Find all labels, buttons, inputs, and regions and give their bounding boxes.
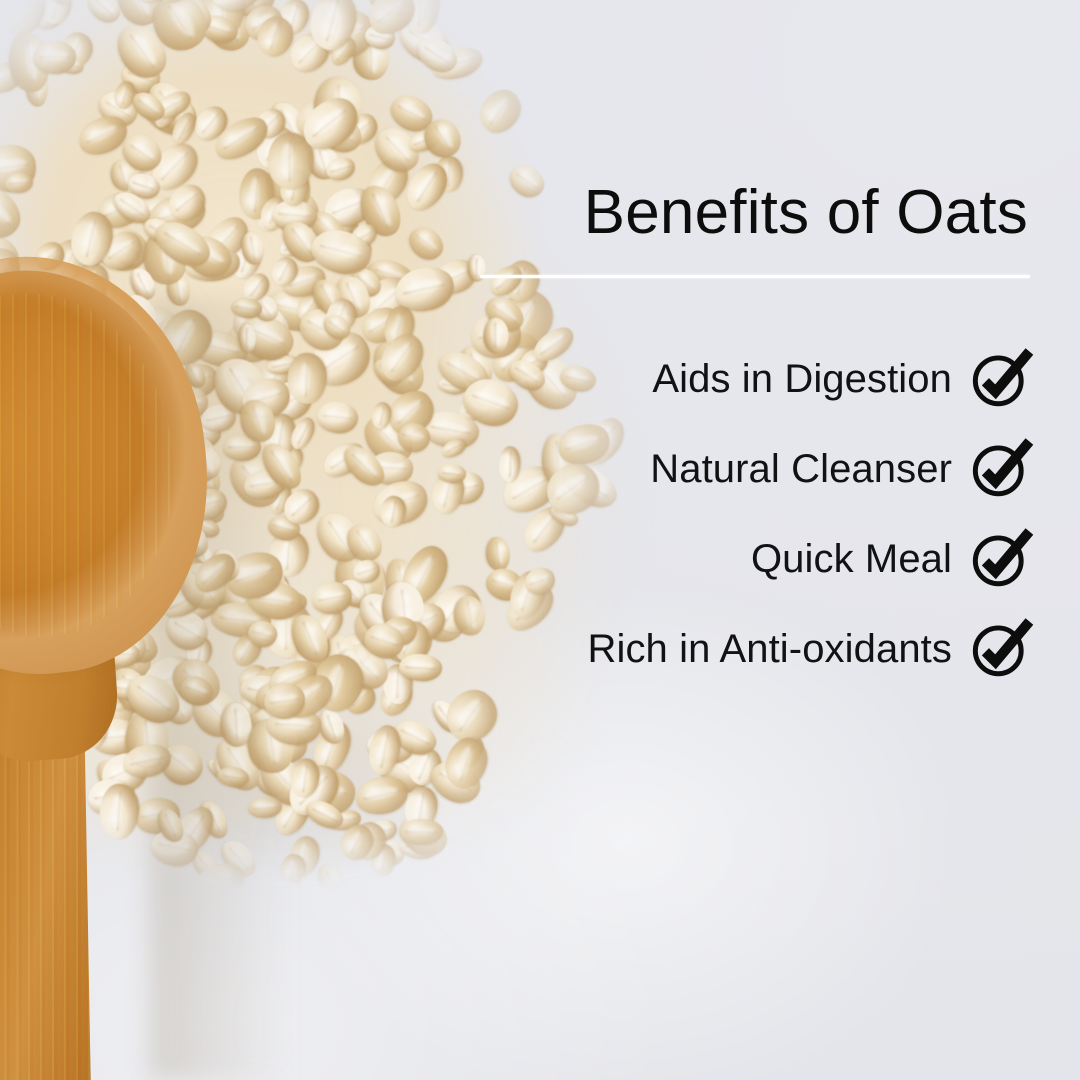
oat-flake-ridge xyxy=(249,278,264,297)
oat-flake-ridge xyxy=(302,621,318,655)
oat-flake-ridge xyxy=(328,320,345,333)
oat-flake-ridge xyxy=(178,117,191,140)
benefits-poster: Benefits of Oats Aids in DigestionNatura… xyxy=(0,0,1080,1080)
oat-flake-ridge xyxy=(401,730,430,746)
benefit-item: Aids in Digestion xyxy=(652,346,1030,412)
oat-flake-ridge xyxy=(39,56,70,58)
oat-flake-ridge xyxy=(249,236,255,260)
oat-flake-ridge xyxy=(130,143,155,161)
check-circle-icon xyxy=(968,526,1034,592)
oat-flake-ridge xyxy=(108,241,135,260)
poster-content: Benefits of Oats Aids in DigestionNatura… xyxy=(430,180,1030,800)
oat-flake-ridge xyxy=(202,112,220,133)
oat-flake-ridge xyxy=(357,567,376,575)
oat-flake-ridge xyxy=(379,405,385,425)
benefit-item: Rich in Anti-oxidants xyxy=(587,616,1030,682)
oat-flake-ridge xyxy=(363,790,400,800)
oat-flake-ridge xyxy=(291,497,312,516)
oat-flake-ridge xyxy=(253,176,258,213)
oat-flake-ridge xyxy=(9,181,29,185)
oat-flake-ridge xyxy=(305,360,309,396)
oat-flake-ridge xyxy=(326,0,339,41)
oat-flake-ridge xyxy=(132,181,154,190)
oat-flake-ridge xyxy=(278,213,311,218)
oat-flake-ridge xyxy=(15,0,25,27)
oat-flake xyxy=(286,352,327,404)
oat-flake-ridge xyxy=(175,193,197,212)
oat-flake-ridge xyxy=(434,126,451,151)
oat-flake xyxy=(0,88,3,132)
oat-flake-ridge xyxy=(224,127,260,150)
oat-flake-ridge xyxy=(369,34,391,40)
title-divider xyxy=(480,275,1030,278)
spoon-handle-grain xyxy=(0,706,96,1080)
oat-flake-ridge xyxy=(130,34,155,68)
oat-flake-ridge xyxy=(121,86,128,106)
oat-flake-ridge xyxy=(297,423,310,446)
oat-flake-ridge xyxy=(390,342,412,373)
oat-flake-ridge xyxy=(318,594,347,601)
oat-flake xyxy=(472,82,528,140)
benefit-label: Rich in Anti-oxidants xyxy=(587,629,952,669)
oat-flake-ridge xyxy=(490,97,511,124)
oat-flake-ridge xyxy=(330,663,344,703)
oat-flake-ridge xyxy=(164,232,201,256)
oat-flake-ridge xyxy=(356,530,373,554)
oat-flake-ridge xyxy=(323,415,352,420)
page-title: Benefits of Oats xyxy=(584,180,1030,245)
oat-flake-ridge xyxy=(371,44,373,74)
oat-flake xyxy=(316,400,360,435)
benefit-label: Natural Cleanser xyxy=(650,449,952,489)
oat-flake-ridge xyxy=(288,141,291,182)
benefit-label: Aids in Digestion xyxy=(652,359,952,399)
oat-flake-ridge xyxy=(320,245,362,258)
oat-flake-ridge xyxy=(370,636,398,647)
oat-flake-ridge xyxy=(86,127,119,144)
oat-flake-ridge xyxy=(312,808,338,823)
oat-flake-ridge xyxy=(303,765,309,793)
oat-flake-ridge xyxy=(86,220,97,258)
oat-flake-ridge xyxy=(418,0,423,26)
benefit-item: Quick Meal xyxy=(751,526,1030,592)
oat-flake-ridge xyxy=(351,453,377,479)
check-circle-icon xyxy=(968,436,1034,502)
benefit-label: Quick Meal xyxy=(751,539,952,579)
oat-flake-ridge xyxy=(161,152,189,180)
oat-flake-ridge xyxy=(402,433,425,440)
oat-flake-ridge xyxy=(0,164,29,172)
oat-flake xyxy=(33,41,76,75)
oat-flake xyxy=(399,818,444,844)
oat-flake-ridge xyxy=(397,401,424,426)
oat-flake-ridge xyxy=(0,198,11,226)
oat-flake-ridge xyxy=(290,858,296,879)
oat-flake-ridge xyxy=(291,228,312,255)
oat-flake-ridge xyxy=(138,98,160,115)
oat-flake-ridge xyxy=(397,105,425,121)
oat-flake-ridge xyxy=(330,165,351,173)
oat-flake-ridge xyxy=(385,137,410,163)
wooden-spoon-image xyxy=(0,270,210,1080)
oat-flake-ridge xyxy=(406,830,438,832)
oat-flake-ridge xyxy=(350,830,364,854)
check-circle-icon xyxy=(968,346,1034,412)
oat-flake-ridge xyxy=(119,165,127,187)
oat-flake-ridge xyxy=(279,262,290,282)
oat-flake-ridge xyxy=(377,0,407,22)
oat-flake-ridge xyxy=(269,23,280,51)
oat-flake-ridge xyxy=(380,733,389,769)
oat-flake-ridge xyxy=(381,849,385,872)
benefit-item: Natural Cleanser xyxy=(650,436,1030,502)
oat-flake xyxy=(5,172,34,194)
oat-flake-ridge xyxy=(390,501,396,523)
oat-flake-ridge xyxy=(313,109,347,137)
spoon-handle xyxy=(0,706,96,1080)
oat-flake-ridge xyxy=(326,715,336,740)
oat-flake-ridge xyxy=(372,193,390,229)
check-circle-icon xyxy=(968,616,1034,682)
oat-flake-ridge xyxy=(168,5,193,40)
oat-flake-ridge xyxy=(120,199,144,217)
oat-flake-ridge xyxy=(418,754,430,780)
benefits-list: Aids in DigestionNatural CleanserQuick M… xyxy=(430,346,1030,682)
oat-flake-ridge xyxy=(424,46,451,64)
spoon-bowl xyxy=(0,255,212,675)
oat-flake-ridge xyxy=(396,670,399,699)
oat-flake-ridge xyxy=(94,0,114,16)
